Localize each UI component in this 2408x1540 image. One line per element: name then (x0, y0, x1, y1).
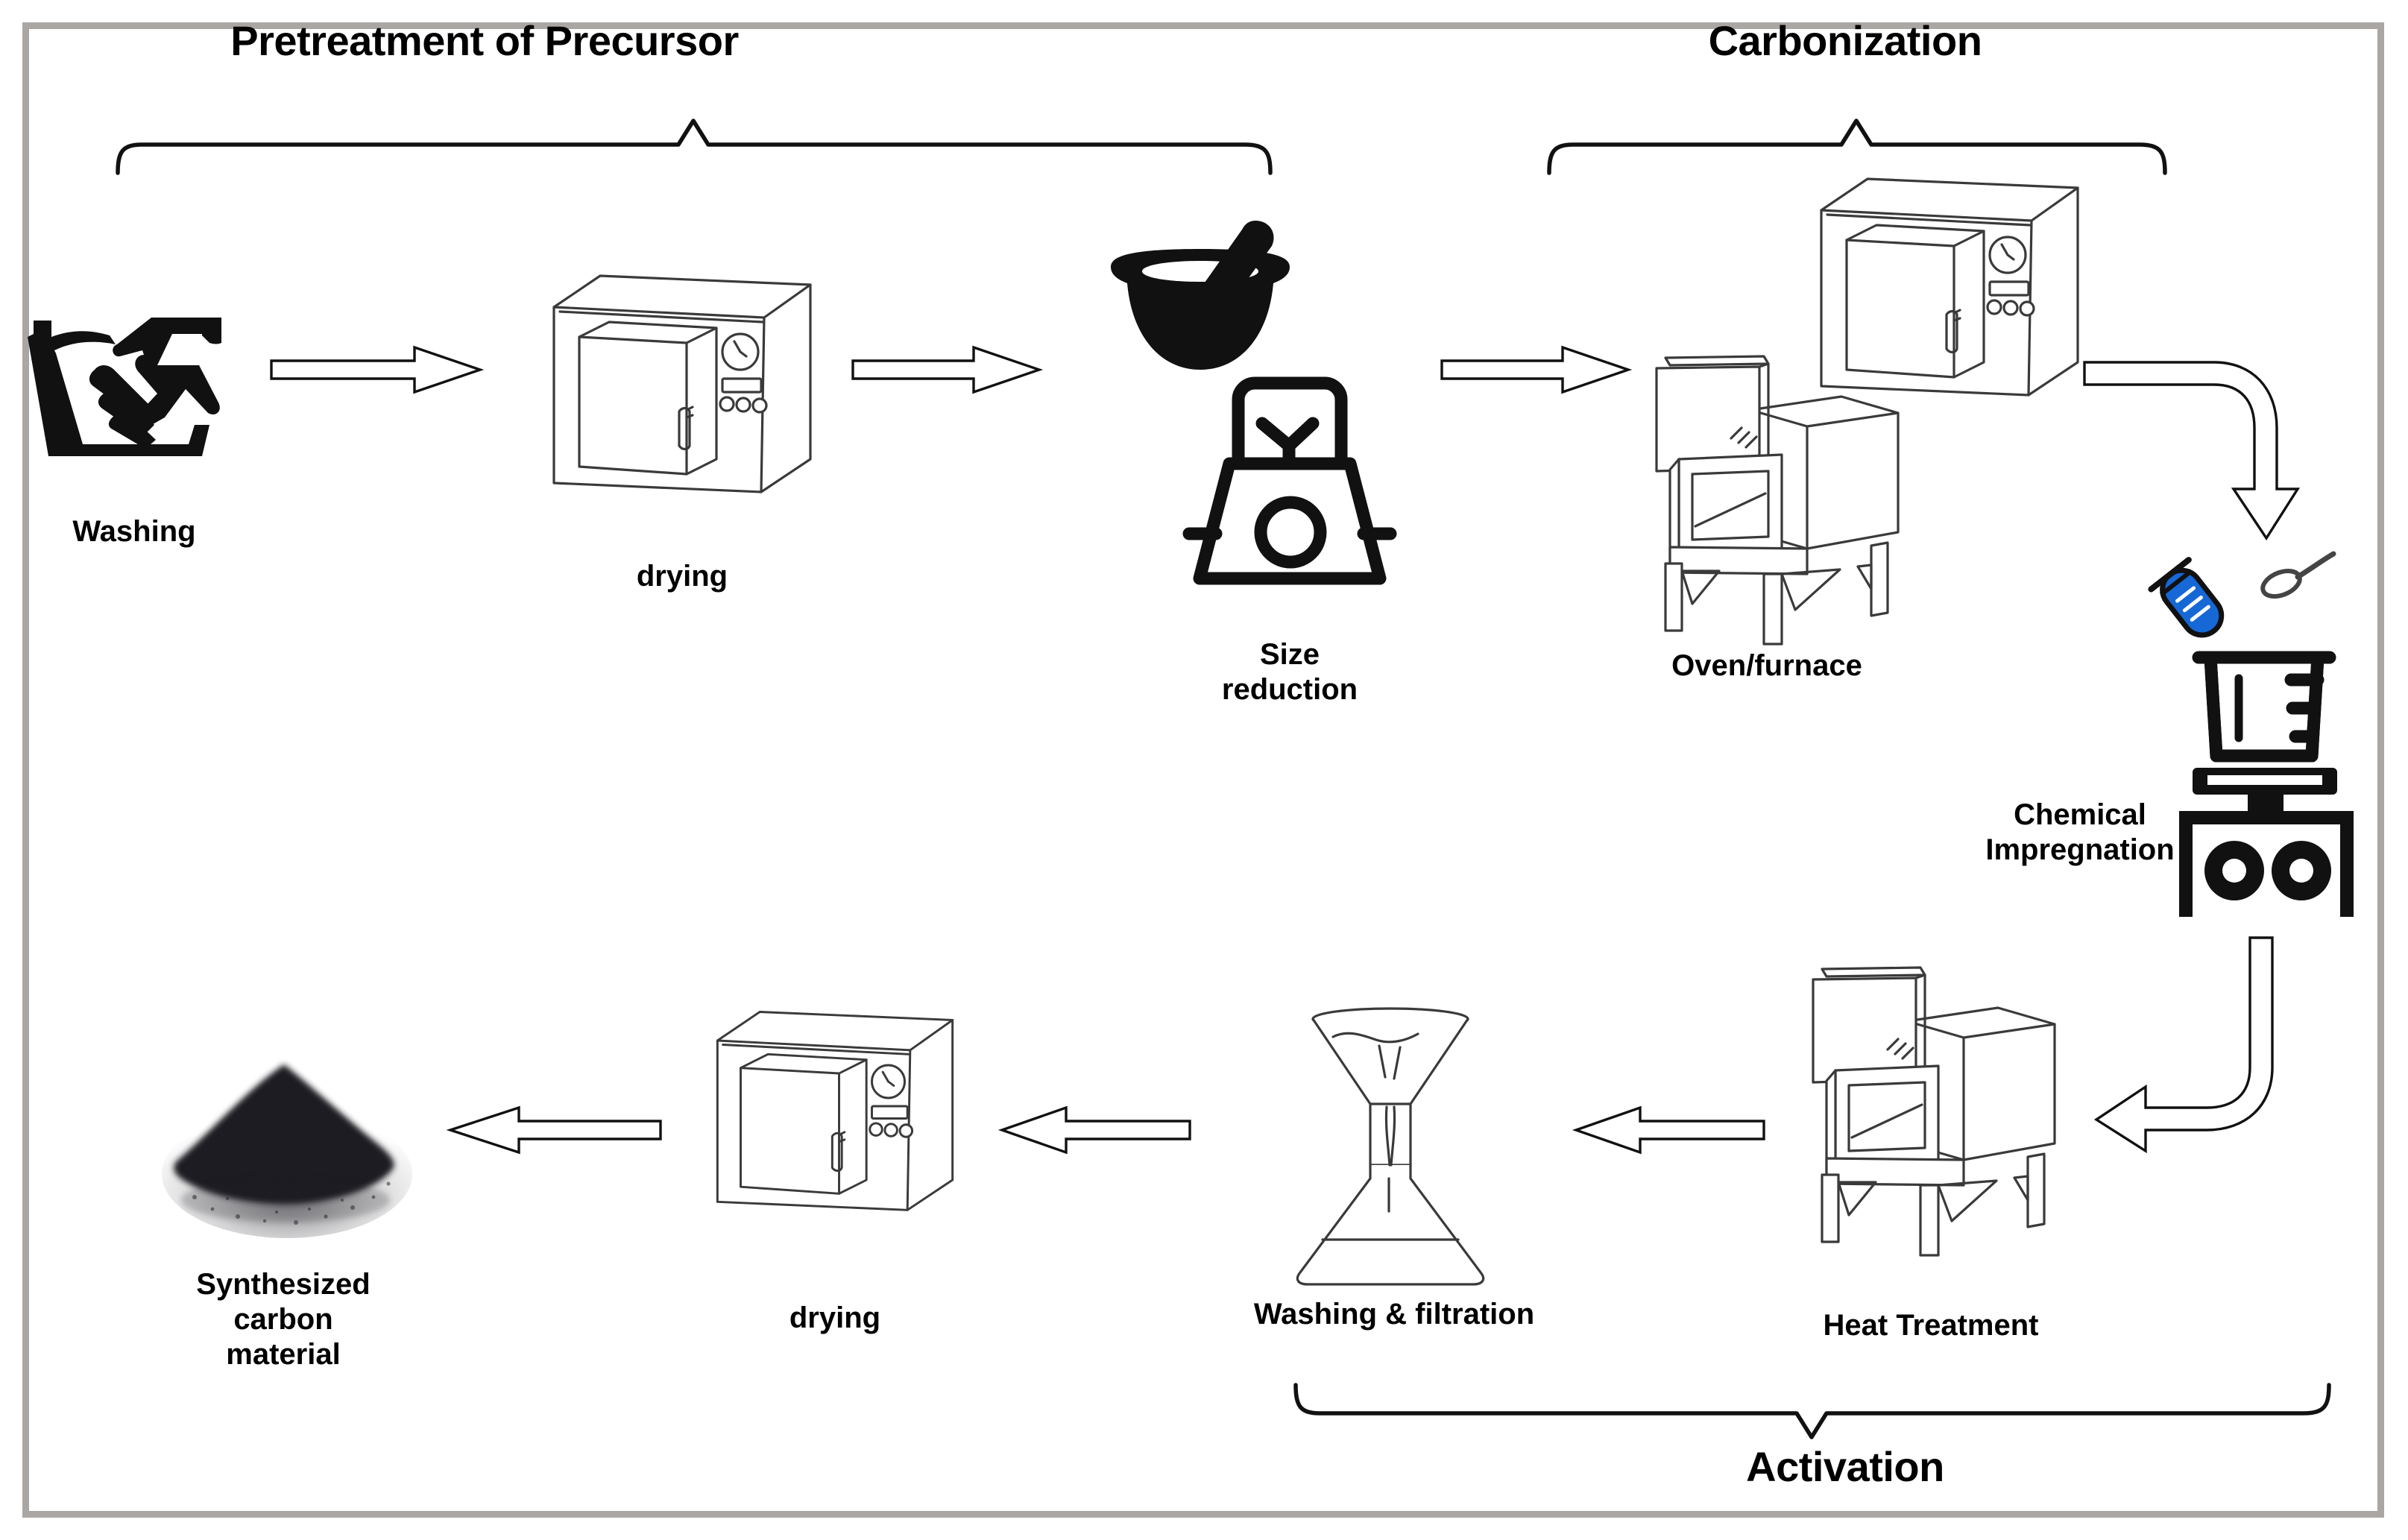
beaker-on-hotplate-icon (2158, 634, 2374, 924)
step-label-washing-filtration: Washing & filtration (1208, 1297, 1580, 1332)
step-label-chemical-impregnation: Chemical Impregnation (1923, 798, 2237, 868)
step-label-drying-top: drying (548, 559, 816, 594)
bracket-pretreatment (112, 112, 1275, 179)
heat-treatment-furnace-icon (1804, 962, 2073, 1260)
arrow-washing-to-drying (268, 335, 485, 410)
process-flow-diagram: Pretreatment of Precursor Carbonization … (0, 0, 2408, 1540)
step-label-drying-bottom: drying (708, 1301, 962, 1336)
arrow-carbonization-to-impregnation (2080, 335, 2319, 574)
step-label-size-reduction: Size reduction (1152, 637, 1428, 707)
carbonization-oven-icon (1815, 171, 2084, 410)
drying-oven-icon (548, 268, 816, 507)
arrow-filtration-to-drying (999, 1096, 1193, 1170)
section-title-pretreatment: Pretreatment of Precursor (67, 16, 902, 65)
section-title-carbonization: Carbonization (1416, 16, 2274, 65)
step-label-oven-furnace: Oven/furnace (1618, 648, 1916, 684)
funnel-flask-icon (1290, 988, 1491, 1286)
spoon-icon (2259, 548, 2341, 608)
arrow-size-reduction-to-oven (1439, 335, 1633, 410)
step-label-synthesized-carbon: Synthesized carbon material (134, 1267, 432, 1373)
drying-oven-bottom-icon (712, 1003, 958, 1226)
step-label-washing: Washing (15, 514, 253, 549)
bracket-carbonization (1543, 112, 2169, 179)
bracket-activation (1290, 1379, 2333, 1446)
arrow-heat-to-washing-filtration (1573, 1096, 1767, 1170)
hand-wash-basin-icon (26, 298, 242, 477)
arrow-drying-to-size-reduction (850, 335, 1044, 410)
arrow-drying-to-carbon (447, 1096, 664, 1170)
section-title-activation: Activation (1416, 1442, 2274, 1491)
step-label-heat-treatment: Heat Treatment (1759, 1308, 2102, 1343)
grinder-icon (1167, 365, 1413, 611)
test-tube-icon (2143, 563, 2240, 645)
black-carbon-powder-icon (160, 1021, 414, 1260)
